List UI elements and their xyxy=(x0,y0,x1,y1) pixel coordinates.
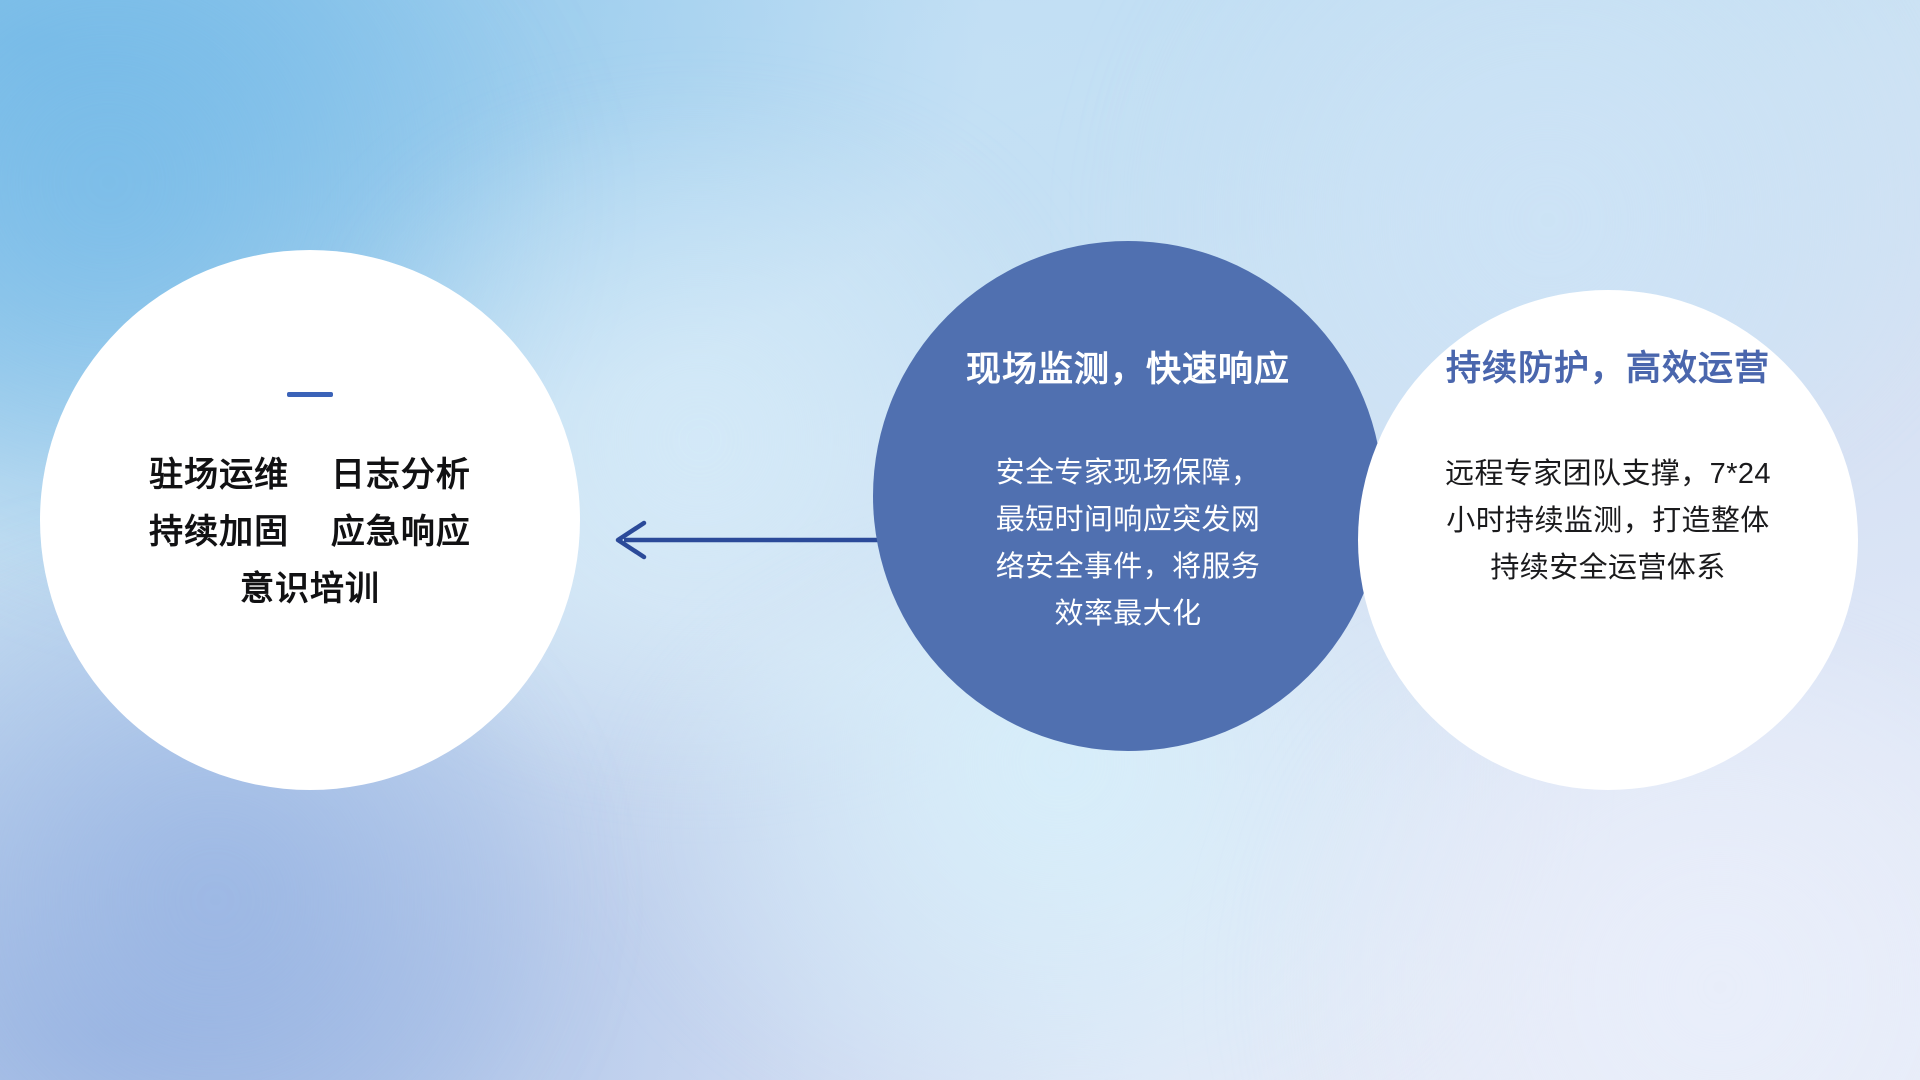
right-circle-description: 远程专家团队支撑，7*24 小时持续监测，打造整体 持续安全运营体系 xyxy=(1393,451,1823,592)
list-item: 持续加固 应急响应 xyxy=(40,504,580,561)
middle-circle-description: 安全专家现场保障， 最短时间响应突发网 络安全事件，将服务 效率最大化 xyxy=(926,450,1330,638)
description-line: 远程专家团队支撑，7*24 xyxy=(1393,451,1823,498)
description-line: 持续安全运营体系 xyxy=(1393,545,1823,592)
description-line: 络安全事件，将服务 xyxy=(926,544,1330,591)
description-line: 小时持续监测，打造整体 xyxy=(1393,498,1823,545)
description-line: 效率最大化 xyxy=(926,591,1330,638)
right-circle-title: 持续防护，高效运营 xyxy=(1446,340,1770,391)
list-item: 驻场运维 日志分析 xyxy=(40,447,580,504)
description-line: 最短时间响应突发网 xyxy=(926,497,1330,544)
capability-circle-middle: 现场监测，快速响应 安全专家现场保障， 最短时间响应突发网 络安全事件，将服务 … xyxy=(873,241,1383,751)
middle-circle-title: 现场监测，快速响应 xyxy=(966,341,1290,392)
capability-keyword-list: 驻场运维 日志分析 持续加固 应急响应 意识培训 xyxy=(40,447,580,618)
arrow-left-icon xyxy=(598,515,898,565)
list-item: 意识培训 xyxy=(40,561,580,618)
description-line: 安全专家现场保障， xyxy=(926,450,1330,497)
horizontal-dash-icon xyxy=(287,392,333,397)
infographic-canvas: 驻场运维 日志分析 持续加固 应急响应 意识培训 现场监测，快速响应 安全专家现… xyxy=(0,0,1920,1080)
capability-circle-right: 持续防护，高效运营 远程专家团队支撑，7*24 小时持续监测，打造整体 持续安全… xyxy=(1358,290,1858,790)
capability-circle-left: 驻场运维 日志分析 持续加固 应急响应 意识培训 xyxy=(40,250,580,790)
